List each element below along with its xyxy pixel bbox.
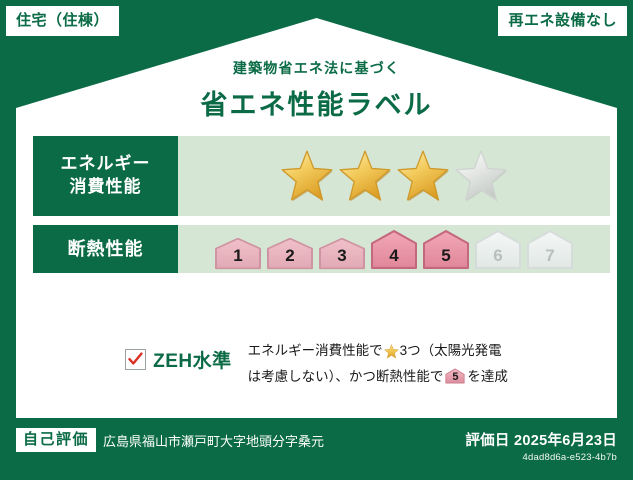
label-main-title: 省エネ性能ラベル xyxy=(0,83,633,122)
insulation-grade-badge: 6 xyxy=(474,229,522,270)
star-icon-filled xyxy=(280,149,334,203)
zeh-badge: ZEH水準 xyxy=(125,346,232,373)
row-energy-label: エネルギー 消費性能 xyxy=(33,136,178,216)
footer-left-group: 自己評価 広島県福山市瀬戸町大字地頭分字桑元 xyxy=(16,428,324,452)
row-energy-label-line1: エネルギー xyxy=(61,153,151,176)
star-icon-empty xyxy=(454,149,508,203)
insulation-grade-number: 4 xyxy=(370,247,418,264)
zeh-desc-line1-b: 3つ（太陽光発電 xyxy=(400,343,502,358)
rating-rows: エネルギー 消費性能 断熱性能 1234567 xyxy=(33,136,610,282)
zeh-checkbox[interactable] xyxy=(125,349,146,370)
insulation-grade-scale: 1234567 xyxy=(178,225,610,273)
row-insulation-label-line1: 断熱性能 xyxy=(68,237,144,261)
row-insulation-performance: 断熱性能 1234567 xyxy=(33,225,610,273)
zeh-desc-line1-a: エネルギー消費性能で xyxy=(248,343,383,358)
energy-performance-label: 住宅（住棟） 再エネ設備なし 建築物省エネ法に基づく 省エネ性能ラベル エネルギ… xyxy=(0,0,633,480)
star-icon-inline xyxy=(384,347,399,362)
zeh-description-line2: は考慮しない）、かつ断熱性能で5を達成 xyxy=(248,366,508,388)
zeh-label: ZEH水準 xyxy=(153,346,232,373)
insulation-grade-number: 6 xyxy=(474,247,522,264)
insulation-grade-badge: 4 xyxy=(370,229,418,270)
insulation-grade-badge: 3 xyxy=(318,237,366,270)
zeh-desc-line2-b: を達成 xyxy=(467,369,508,384)
zeh-desc-line2-a: は考慮しない）、かつ断熱性能で xyxy=(248,369,444,384)
insulation-grade-badge: 5 xyxy=(422,229,470,270)
zeh-description-line1: エネルギー消費性能で3つ（太陽光発電 xyxy=(248,340,508,366)
evaluation-id: 4dad8d6a-e523-4b7b xyxy=(465,452,617,463)
energy-star-rating xyxy=(178,136,610,216)
property-address: 広島県福山市瀬戸町大字地頭分字桑元 xyxy=(103,431,324,450)
insulation-grade-number: 2 xyxy=(266,247,314,264)
label-title-block: 建築物省エネ法に基づく 省エネ性能ラベル xyxy=(0,58,633,122)
insulation-grade-number: 3 xyxy=(318,247,366,264)
star-icon-filled xyxy=(396,149,450,203)
evaluation-date: 評価日 2025年6月23日 xyxy=(465,429,617,450)
check-icon xyxy=(128,352,143,367)
insulation-grade-number: 7 xyxy=(526,247,574,264)
row-insulation-label: 断熱性能 xyxy=(33,225,178,273)
renewable-energy-tag: 再エネ設備なし xyxy=(498,6,627,36)
insulation-grade-badge: 2 xyxy=(266,237,314,270)
label-footer: 自己評価 広島県福山市瀬戸町大字地頭分字桑元 評価日 2025年6月23日 4d… xyxy=(0,418,633,480)
self-evaluation-badge: 自己評価 xyxy=(16,428,96,452)
house-badge-inline-number: 5 xyxy=(445,372,465,383)
insulation-grade-number: 5 xyxy=(422,247,470,264)
footer-right-group: 評価日 2025年6月23日 4dad8d6a-e523-4b7b xyxy=(465,428,617,463)
label-subtitle: 建築物省エネ法に基づく xyxy=(0,58,633,78)
house-badge-icon-inline: 5 xyxy=(445,368,465,384)
row-energy-label-line2: 消費性能 xyxy=(70,176,142,199)
insulation-grade-badge: 1 xyxy=(214,237,262,270)
insulation-grade-badge: 7 xyxy=(526,229,574,270)
building-type-tag: 住宅（住棟） xyxy=(6,6,119,36)
zeh-description: エネルギー消費性能で3つ（太陽光発電 は考慮しない）、かつ断熱性能で5を達成 xyxy=(248,340,508,389)
row-energy-performance: エネルギー 消費性能 xyxy=(33,136,610,216)
star-icon-filled xyxy=(338,149,392,203)
insulation-grade-number: 1 xyxy=(214,247,262,264)
zeh-standard-row: ZEH水準 エネルギー消費性能で3つ（太陽光発電 は考慮しない）、かつ断熱性能で… xyxy=(0,340,633,389)
insulation-grade-strip: 1234567 xyxy=(214,229,574,270)
